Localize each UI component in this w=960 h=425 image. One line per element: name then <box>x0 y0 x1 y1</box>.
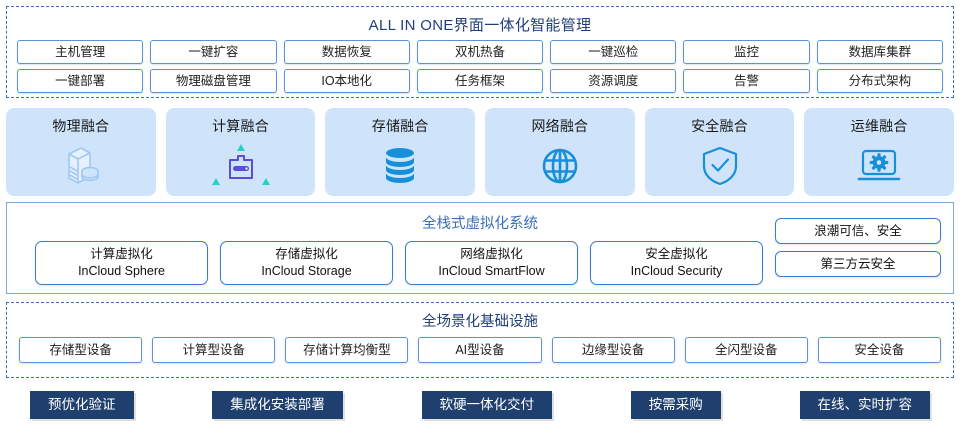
section-fusion-cards: 物理融合 计算融合 <box>6 108 954 196</box>
pill-column: 一键巡检 资源调度 <box>550 40 676 93</box>
virt-side-third-party-cloud[interactable]: 第三方云安全 <box>775 251 941 277</box>
cta-pre-optimization-validation[interactable]: 预优化验证 <box>30 391 134 419</box>
all-in-one-title: ALL IN ONE界面一体化智能管理 <box>7 14 953 35</box>
pill-monitoring[interactable]: 监控 <box>683 40 809 64</box>
pill-resource-scheduling[interactable]: 资源调度 <box>550 69 676 93</box>
pill-one-click-expand[interactable]: 一键扩容 <box>150 40 276 64</box>
section-infrastructure: 全场景化基础设施 存储型设备 计算型设备 存储计算均衡型 AI型设备 边缘型设备… <box>6 302 954 378</box>
database-stack-icon <box>325 136 475 196</box>
infra-item-balanced-device[interactable]: 存储计算均衡型 <box>285 337 408 363</box>
virt-side-inspur-trusted[interactable]: 浪潮可信、安全 <box>775 218 941 244</box>
pill-column: 监控 告警 <box>683 40 809 93</box>
fusion-card-security[interactable]: 安全融合 <box>645 108 795 196</box>
virt-box-line1: 网络虚拟化 <box>460 246 523 263</box>
virt-box-security[interactable]: 安全虚拟化 InCloud Security <box>590 241 763 285</box>
fusion-card-label: 物理融合 <box>52 116 109 136</box>
virt-box-line1: 计算虚拟化 <box>90 246 153 263</box>
fusion-card-label: 计算融合 <box>212 116 269 136</box>
virt-side-stack: 浪潮可信、安全 第三方云安全 <box>775 218 941 277</box>
virt-box-line1: 存储虚拟化 <box>275 246 338 263</box>
section-cta-bar: 预优化验证 集成化安装部署 软硬一体化交付 按需采购 在线、实时扩容 <box>30 390 930 420</box>
cta-online-realtime-expansion[interactable]: 在线、实时扩容 <box>800 391 931 419</box>
infra-item-edge-device[interactable]: 边缘型设备 <box>552 337 675 363</box>
fusion-card-label: 运维融合 <box>851 116 908 136</box>
virt-box-line2: InCloud Storage <box>261 263 351 280</box>
pill-io-localization[interactable]: IO本地化 <box>284 69 410 93</box>
infra-item-storage-device[interactable]: 存储型设备 <box>19 337 142 363</box>
pill-alarm[interactable]: 告警 <box>683 69 809 93</box>
pill-database-cluster[interactable]: 数据库集群 <box>817 40 943 64</box>
laptop-gear-icon <box>804 136 954 196</box>
pill-one-click-inspection[interactable]: 一键巡检 <box>550 40 676 64</box>
pill-host-management[interactable]: 主机管理 <box>17 40 143 64</box>
pill-distributed-architecture[interactable]: 分布式架构 <box>817 69 943 93</box>
infra-item-security-device[interactable]: 安全设备 <box>818 337 941 363</box>
virtualization-row: 计算虚拟化 InCloud Sphere 存储虚拟化 InCloud Stora… <box>35 241 941 285</box>
infrastructure-title: 全场景化基础设施 <box>7 310 953 331</box>
server-storage-icon <box>6 136 156 196</box>
compute-rack-icon <box>166 136 316 196</box>
fusion-card-operations[interactable]: 运维融合 <box>804 108 954 196</box>
pill-column: 数据恢复 IO本地化 <box>284 40 410 93</box>
virt-box-network[interactable]: 网络虚拟化 InCloud SmartFlow <box>405 241 578 285</box>
fusion-card-compute[interactable]: 计算融合 <box>166 108 316 196</box>
pill-column: 一键扩容 物理磁盘管理 <box>150 40 276 93</box>
fusion-card-label: 存储融合 <box>372 116 429 136</box>
pill-column: 数据库集群 分布式架构 <box>817 40 943 93</box>
architecture-diagram: ALL IN ONE界面一体化智能管理 主机管理 一键部署 一键扩容 物理磁盘管… <box>0 0 960 425</box>
pill-column: 双机热备 任务框架 <box>417 40 543 93</box>
pill-physical-disk-mgmt[interactable]: 物理磁盘管理 <box>150 69 276 93</box>
cta-on-demand-procurement[interactable]: 按需采购 <box>631 391 721 419</box>
fusion-card-storage[interactable]: 存储融合 <box>325 108 475 196</box>
fusion-card-label: 安全融合 <box>691 116 748 136</box>
fusion-card-network[interactable]: 网络融合 <box>485 108 635 196</box>
infra-item-all-flash-device[interactable]: 全闪型设备 <box>685 337 808 363</box>
all-in-one-pill-grid: 主机管理 一键部署 一键扩容 物理磁盘管理 数据恢复 IO本地化 双机热备 任务… <box>17 40 943 93</box>
pill-task-framework[interactable]: 任务框架 <box>417 69 543 93</box>
pill-one-click-deploy[interactable]: 一键部署 <box>17 69 143 93</box>
shield-check-icon <box>645 136 795 196</box>
virt-box-storage[interactable]: 存储虚拟化 InCloud Storage <box>220 241 393 285</box>
virt-box-line2: InCloud Sphere <box>78 263 165 280</box>
virt-box-line2: InCloud SmartFlow <box>438 263 544 280</box>
pill-data-recovery[interactable]: 数据恢复 <box>284 40 410 64</box>
cta-integrated-installation[interactable]: 集成化安装部署 <box>212 391 343 419</box>
virt-box-line2: InCloud Security <box>631 263 723 280</box>
infra-item-compute-device[interactable]: 计算型设备 <box>152 337 275 363</box>
virt-box-compute[interactable]: 计算虚拟化 InCloud Sphere <box>35 241 208 285</box>
pill-column: 主机管理 一键部署 <box>17 40 143 93</box>
infrastructure-row: 存储型设备 计算型设备 存储计算均衡型 AI型设备 边缘型设备 全闪型设备 安全… <box>19 337 941 363</box>
section-virtualization: 全栈式虚拟化系统 计算虚拟化 InCloud Sphere 存储虚拟化 InCl… <box>6 202 954 294</box>
infra-item-ai-device[interactable]: AI型设备 <box>418 337 541 363</box>
fusion-card-label: 网络融合 <box>531 116 588 136</box>
section-all-in-one: ALL IN ONE界面一体化智能管理 主机管理 一键部署 一键扩容 物理磁盘管… <box>6 6 954 98</box>
globe-network-icon <box>485 136 635 196</box>
fusion-card-physical[interactable]: 物理融合 <box>6 108 156 196</box>
pill-dual-machine-hot-standby[interactable]: 双机热备 <box>417 40 543 64</box>
cta-hw-sw-integrated-delivery[interactable]: 软硬一体化交付 <box>422 391 553 419</box>
virt-box-line1: 安全虚拟化 <box>645 246 708 263</box>
